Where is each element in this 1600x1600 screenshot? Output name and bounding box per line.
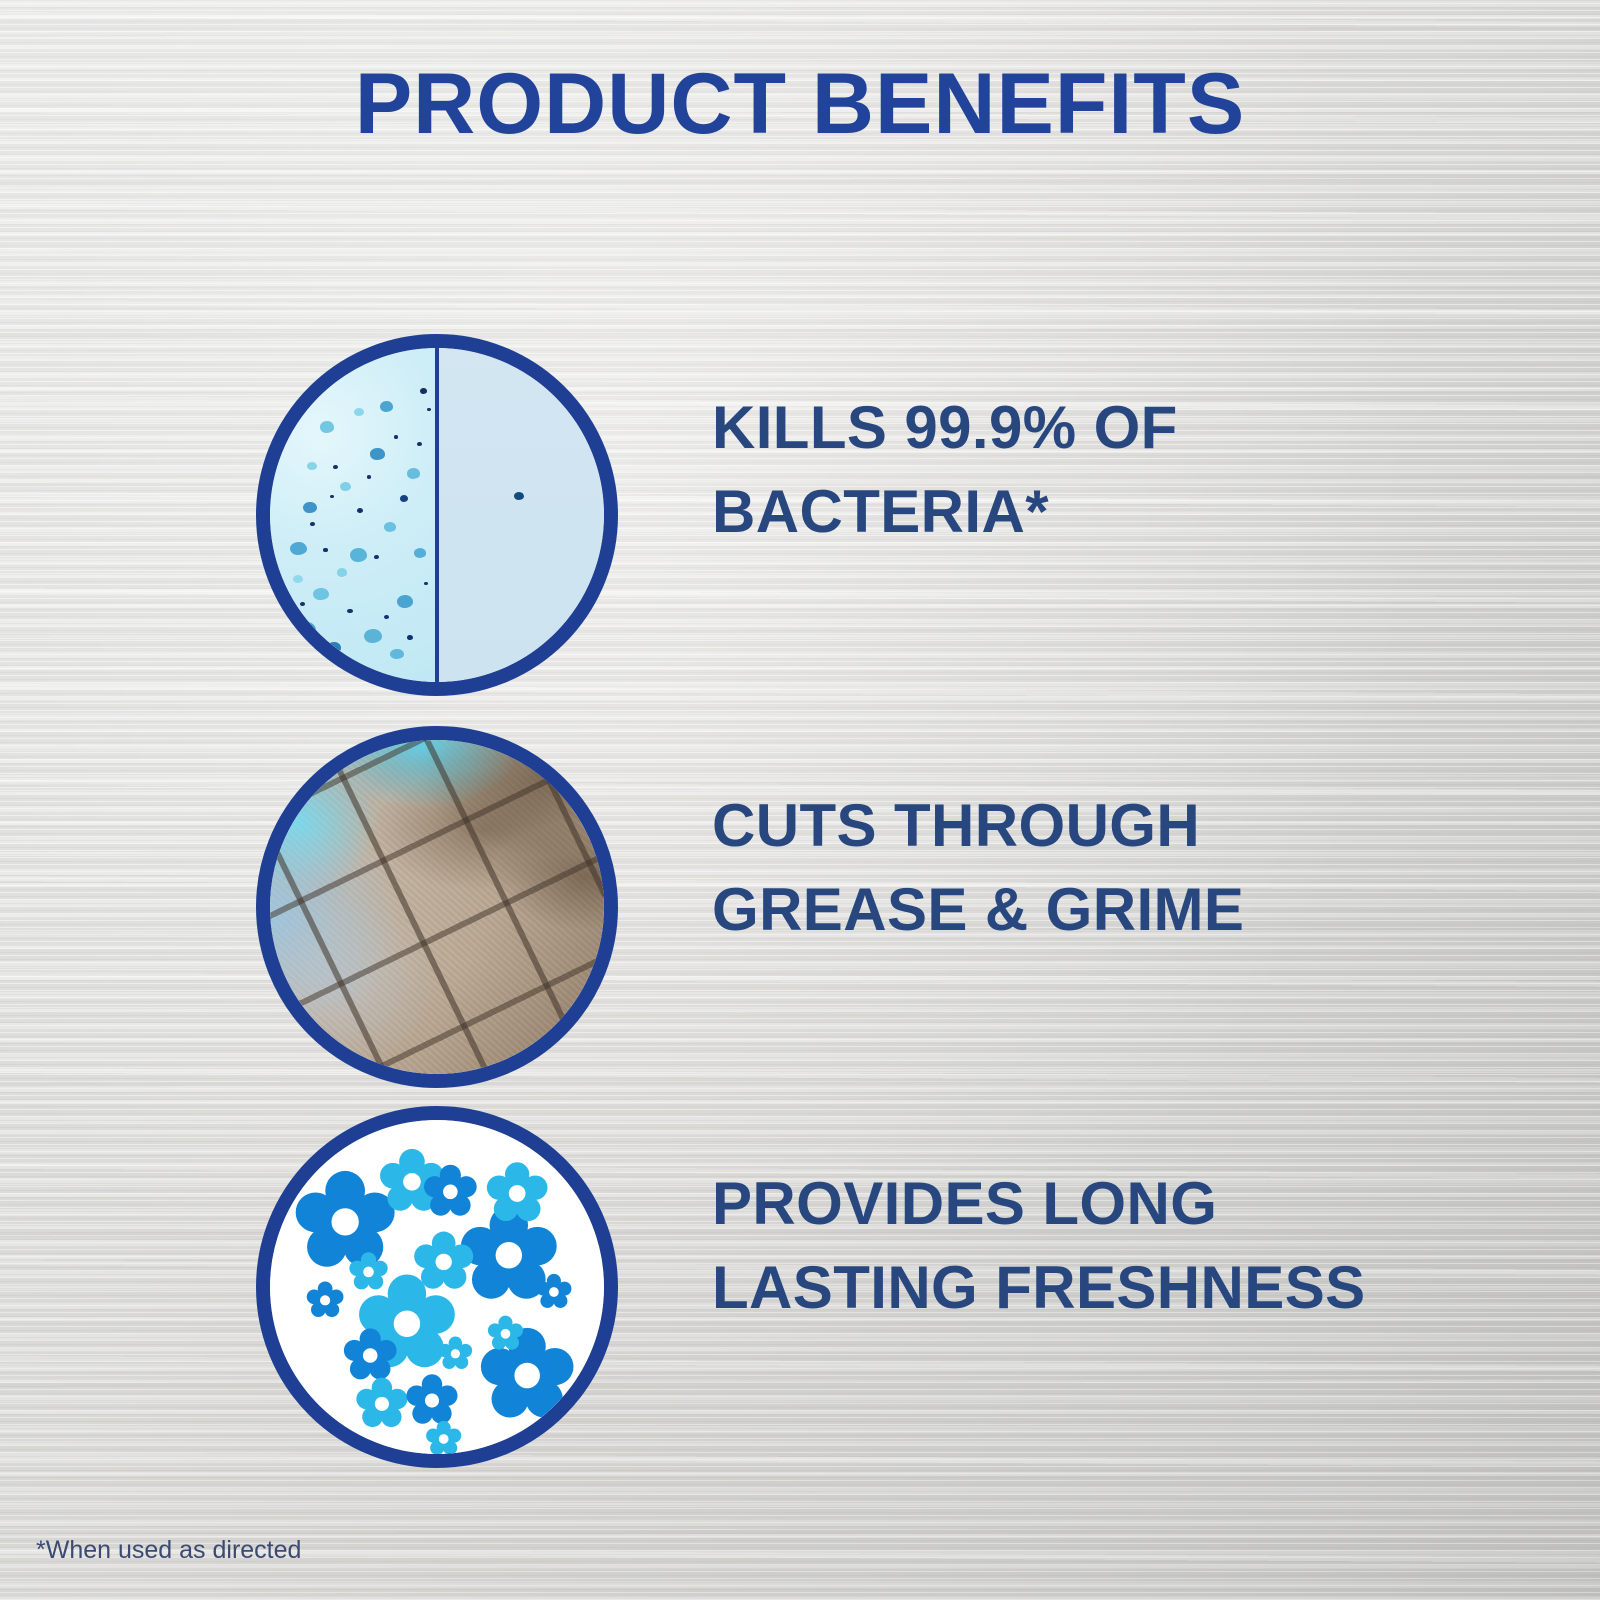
benefit-line-2: LASTING FRESHNESS (712, 1246, 1512, 1330)
tile-floor-art (270, 740, 604, 1074)
benefit-row-kills-bacteria: KILLS 99.9% OF BACTERIA* (0, 330, 1600, 696)
tile-grout-lines (270, 740, 604, 1074)
benefit-line-1: PROVIDES LONG (712, 1162, 1512, 1246)
page-title: PRODUCT BENEFITS (0, 56, 1600, 152)
flower-field-art (270, 1120, 604, 1454)
petri-divider-line (435, 348, 439, 682)
benefit-line-1: CUTS THROUGH (712, 784, 1512, 868)
footnote-when-used-as-directed: *When used as directed (36, 1535, 301, 1565)
blue-flowers-freshness-icon (256, 1106, 618, 1468)
benefit-label-long-lasting-freshness: PROVIDES LONG LASTING FRESHNESS (712, 1162, 1512, 1330)
benefit-label-cuts-grease: CUTS THROUGH GREASE & GRIME (712, 784, 1512, 952)
benefit-label-kills-bacteria: KILLS 99.9% OF BACTERIA* (712, 386, 1512, 554)
benefit-line-2: GREASE & GRIME (712, 868, 1512, 952)
petri-untreated-half (270, 348, 437, 682)
flowers-svg (270, 1120, 604, 1454)
benefit-row-long-lasting-freshness: PROVIDES LONG LASTING FRESHNESS (0, 1102, 1600, 1468)
benefit-line-1: KILLS 99.9% OF (712, 386, 1512, 470)
benefit-line-2: BACTERIA* (712, 470, 1512, 554)
petri-single-remaining-germ (514, 492, 524, 500)
petri-dish-before-after-icon (256, 334, 618, 696)
infographic-page: PRODUCT BENEFITS (0, 0, 1600, 1600)
benefit-row-cuts-grease: CUTS THROUGH GREASE & GRIME (0, 722, 1600, 1088)
petri-treated-half (437, 348, 604, 682)
petri-dish-art (270, 348, 604, 682)
tile-floor-clean-dirty-icon (256, 726, 618, 1088)
